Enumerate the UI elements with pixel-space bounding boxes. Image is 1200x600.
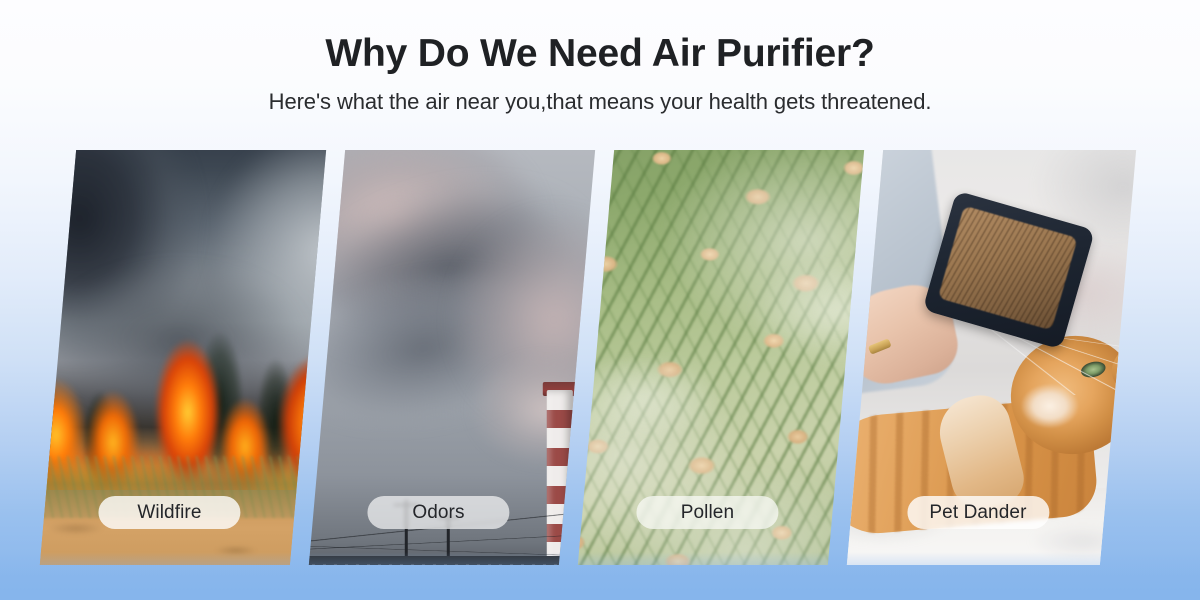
card-label-pet-dander[interactable]: Pet Dander: [907, 496, 1049, 529]
pollutant-card-pollen[interactable]: Pollen: [578, 150, 864, 565]
pollutant-card-odors[interactable]: Odors: [309, 150, 595, 565]
card-label-pollen[interactable]: Pollen: [636, 496, 778, 529]
card-label-wildfire[interactable]: Wildfire: [98, 496, 240, 529]
page-subtitle: Here's what the air near you,that means …: [0, 89, 1200, 115]
air-purifier-banner: Why Do We Need Air Purifier? Here's what…: [0, 0, 1200, 600]
banner-header: Why Do We Need Air Purifier? Here's what…: [0, 0, 1200, 115]
page-title: Why Do We Need Air Purifier?: [0, 32, 1200, 76]
pollutant-card-strip: Wildfire Odors: [0, 150, 1200, 565]
odors-factory-building: [309, 556, 595, 565]
odors-smoke-plume-low: [447, 335, 595, 485]
card-label-odors[interactable]: Odors: [367, 496, 509, 529]
pollutant-card-pet-dander[interactable]: Pet Dander: [847, 150, 1136, 565]
pollutant-card-wildfire[interactable]: Wildfire: [40, 150, 326, 565]
